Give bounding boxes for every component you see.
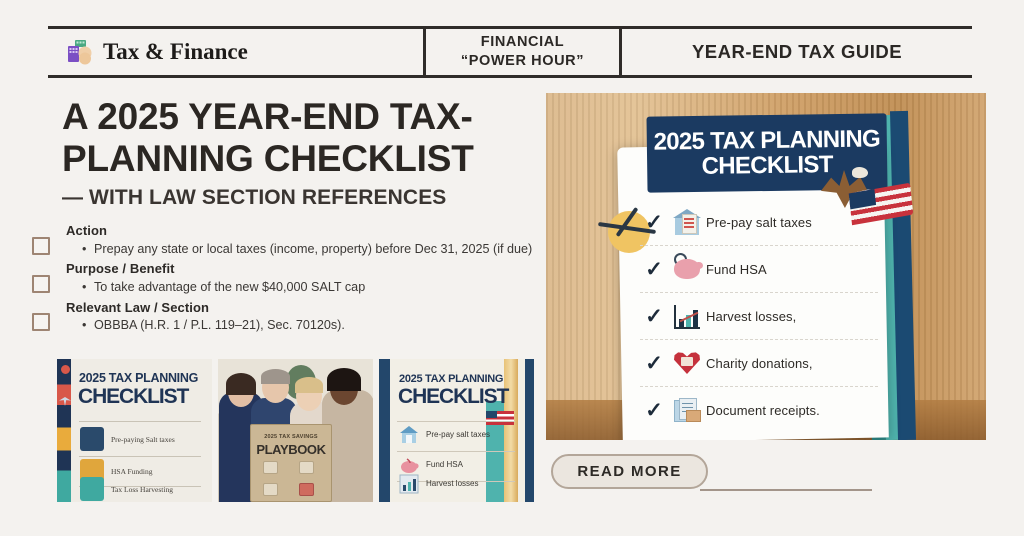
- doc-line: [684, 226, 694, 228]
- cta-underline-decoration: [700, 489, 872, 491]
- thumb3-title-line2: CHECKLIST: [398, 385, 508, 409]
- hero-list-item[interactable]: ✓ Fund HSA: [640, 246, 878, 293]
- calendar-icon: [263, 461, 278, 474]
- heart-icon: [299, 483, 314, 496]
- brand-block[interactable]: Tax & Finance: [48, 29, 426, 75]
- hero-checklist-items: ✓ Pre-pay salt taxes ✓: [640, 199, 878, 434]
- hero-list-item[interactable]: ✓ Charity donations,: [640, 340, 878, 387]
- checklist-bullet-law-text: OBBBA (H.R. 1 / P.L. 119–21), Sec. 70120…: [94, 317, 538, 334]
- playbook-line1: 2025 TAX SAVINGS: [251, 434, 331, 440]
- person-hair: [327, 368, 361, 391]
- check-icon: ✓: [640, 212, 668, 233]
- thumb1-row-3: Tax Loss Harvesting: [111, 485, 173, 494]
- piggy-bank-icon: [668, 253, 706, 285]
- thumbnail-strip: 2025 TAX PLANNING CHECKLIST Pre-paying S…: [57, 359, 534, 502]
- doc-line: [684, 218, 694, 220]
- check-icon: ✓: [640, 400, 668, 421]
- person-hair: [226, 373, 256, 395]
- check-icon: ✓: [640, 353, 668, 374]
- checkbox-law[interactable]: [32, 313, 50, 331]
- house-tax-icon: [399, 425, 419, 445]
- thumb3-row-2: Fund HSA: [426, 460, 463, 469]
- checklist-bullet-action: • Prepay any state or local taxes (incom…: [82, 241, 538, 258]
- divider: [79, 456, 201, 457]
- checklist-bullet-action-text: Prepay any state or local taxes (income,…: [94, 241, 538, 258]
- checklist-bullet-purpose-text: To take advantage of the new $40,000 SAL…: [94, 279, 538, 296]
- thumb1-title-line2: CHECKLIST: [78, 385, 188, 409]
- poster-canvas: Tax & Finance FINANCIAL “POWER HOUR” YEA…: [0, 0, 1024, 536]
- receipt-shape: [686, 410, 701, 422]
- read-more-button[interactable]: READ MORE: [551, 454, 708, 489]
- charity-heart-icon: [668, 347, 706, 379]
- checklist-label-purpose: Purpose / Benefit: [66, 260, 538, 278]
- bullet-dot-icon: •: [82, 317, 94, 334]
- thumb1-row-2: HSA Funding: [111, 467, 152, 476]
- eagle-head-icon: [852, 167, 868, 178]
- thumb1-title-line1: 2025 TAX PLANNING: [79, 371, 198, 385]
- chart-shape: [674, 303, 702, 329]
- documents-icon: [668, 395, 706, 427]
- checklist-content: Action • Prepay any state or local taxes…: [66, 222, 538, 334]
- checkbox-action[interactable]: [32, 237, 50, 255]
- doc-line: [684, 222, 694, 224]
- doc-line: [682, 403, 693, 405]
- divider: [397, 421, 515, 422]
- hero-item-label-4: Charity donations,: [706, 356, 813, 371]
- header-program-title: FINANCIAL “POWER HOUR”: [426, 29, 622, 75]
- bullet-dot-icon: •: [82, 241, 94, 258]
- check-icon: ✓: [640, 259, 668, 280]
- thumb1-row-1: Pre-paying Salt taxes: [111, 435, 175, 444]
- hero-item-label-1: Pre-pay salt taxes: [706, 215, 812, 230]
- hero-list-item[interactable]: ✓ Document receipts.: [640, 387, 878, 434]
- hero-item-label-3: Harvest losses,: [706, 309, 796, 324]
- playbook-poster: 2025 TAX SAVINGS PLAYBOOK: [250, 424, 332, 502]
- checklist-label-law: Relevant Law / Section: [66, 299, 538, 317]
- piggy-shape: [674, 259, 700, 279]
- hero-item-label-5: Document receipts.: [706, 403, 820, 418]
- us-flag-icon: [486, 411, 514, 425]
- hero-list-item[interactable]: ✓ Pre-pay salt taxes: [640, 199, 878, 246]
- brand-name: Tax & Finance: [103, 39, 248, 65]
- color-spine-decoration: [57, 359, 71, 502]
- piggy-bank-icon: [399, 455, 419, 475]
- divider: [79, 421, 201, 422]
- divider: [397, 451, 515, 452]
- thumb3-title-line1: 2025 TAX PLANNING: [399, 373, 503, 385]
- card-right-edge: [525, 359, 534, 502]
- checklist-block: Action • Prepay any state or local taxes…: [28, 222, 538, 337]
- bar-chart-icon: [668, 300, 706, 332]
- playbook-line2: PLAYBOOK: [251, 442, 331, 457]
- person-hair: [295, 377, 323, 393]
- header-section-label: YEAR-END TAX GUIDE: [622, 29, 972, 75]
- house-tax-icon: [668, 206, 706, 238]
- gift-shape: [681, 357, 693, 366]
- checkbox-purpose[interactable]: [32, 275, 50, 293]
- flag-icon: [299, 461, 314, 474]
- doc-line: [682, 407, 693, 409]
- seal-icon: [60, 364, 71, 375]
- site-header: Tax & Finance FINANCIAL “POWER HOUR” YEA…: [48, 26, 972, 78]
- document-shape: [682, 214, 697, 234]
- read-more-label: READ MORE: [577, 463, 681, 480]
- heart-shape: [674, 351, 700, 374]
- checklist-bullet-law: • OBBBA (H.R. 1 / P.L. 119–21), Sec. 701…: [82, 317, 538, 334]
- hero-item-label-2: Fund HSA: [706, 262, 767, 277]
- person-hair: [261, 369, 290, 384]
- y-axis: [674, 305, 676, 329]
- bullet-dot-icon: •: [82, 279, 94, 296]
- hero-list-item[interactable]: ✓ Harvest losses,: [640, 293, 878, 340]
- hero-checklist-image[interactable]: 2025 TAX PLANNING CHECKLIST ✓: [546, 93, 986, 440]
- check-icon: ✓: [640, 306, 668, 327]
- x-axis: [674, 327, 700, 329]
- checklist-label-action: Action: [66, 222, 538, 240]
- hero-title-banner: 2025 TAX PLANNING CHECKLIST: [646, 113, 887, 192]
- page-subtitle: — WITH LAW SECTION REFERENCES: [62, 186, 532, 210]
- thumb-checklist-infographic[interactable]: 2025 TAX PLANNING CHECKLIST Pre-paying S…: [57, 359, 212, 502]
- card-left-edge: [379, 359, 390, 502]
- program-line-2: “POWER HOUR”: [461, 52, 584, 71]
- thumb3-row-3: Harvest losses: [426, 479, 478, 488]
- bar-chart-icon: [399, 474, 419, 494]
- thumb-checklist-card[interactable]: 2025 TAX PLANNING CHECKLIST Pre-pay salt…: [379, 359, 534, 502]
- page-title: A 2025 YEAR-END TAX-PLANNING CHECKLIST: [62, 96, 532, 180]
- bar-chart-icon: [80, 477, 104, 501]
- thumb-advisors-photo[interactable]: 2025 TAX SAVINGS PLAYBOOK: [218, 359, 373, 502]
- documents-shape: [674, 398, 702, 424]
- hero-title-line1: 2025 TAX PLANNING: [653, 126, 880, 154]
- piggy-bank-icon: [263, 483, 278, 496]
- tax-finance-logo-icon: [66, 39, 94, 65]
- section-label-text: YEAR-END TAX GUIDE: [692, 41, 902, 63]
- thumb3-row-1: Pre-pay salt taxes: [426, 430, 490, 439]
- hero-title-line2: CHECKLIST: [701, 152, 832, 179]
- checklist-bullet-purpose: • To take advantage of the new $40,000 S…: [82, 279, 538, 296]
- program-line-1: FINANCIAL: [481, 33, 565, 52]
- house-shape: [673, 209, 701, 235]
- house-tax-icon: [80, 427, 104, 451]
